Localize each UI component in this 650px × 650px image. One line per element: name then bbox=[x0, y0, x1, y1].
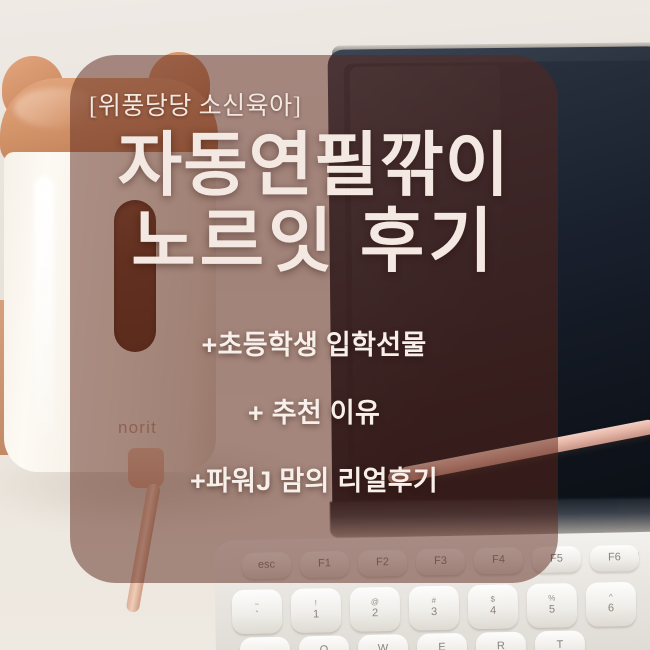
keyboard-key[interactable]: Q bbox=[299, 635, 350, 650]
keyboard-key[interactable]: %5 bbox=[527, 583, 578, 628]
key-label: W bbox=[378, 643, 389, 650]
key-label: 2 bbox=[372, 607, 378, 621]
key-label: 3 bbox=[431, 606, 437, 620]
key-label-top: $ bbox=[491, 595, 496, 605]
keyboard-key[interactable]: #3 bbox=[409, 585, 460, 630]
keyboard-key[interactable]: !1 bbox=[291, 588, 342, 633]
key-label-top: # bbox=[432, 596, 437, 606]
key-label-top: % bbox=[548, 594, 555, 604]
keyboard-key[interactable]: $4 bbox=[468, 584, 519, 629]
key-label: 4 bbox=[490, 605, 496, 619]
key-label: 6 bbox=[608, 602, 614, 616]
key-label-top: ! bbox=[315, 599, 317, 609]
key-label: 5 bbox=[549, 604, 555, 618]
key-label: Q bbox=[320, 644, 329, 650]
key-label-top: ^ bbox=[609, 592, 613, 602]
text-overlay-panel bbox=[70, 55, 558, 583]
keyboard-key[interactable]: ~` bbox=[232, 589, 283, 634]
key-label: R bbox=[497, 640, 505, 650]
keyboard-key[interactable]: E bbox=[417, 633, 468, 650]
key-label: 1 bbox=[313, 609, 319, 623]
key-label-top: @ bbox=[371, 597, 379, 607]
keyboard-key[interactable]: T bbox=[535, 630, 586, 650]
key-label: F6 bbox=[608, 551, 621, 565]
keyboard-key[interactable]: @2 bbox=[350, 587, 401, 632]
keyboard-key[interactable]: ^6 bbox=[586, 582, 637, 627]
keyboard-number-row: ~` !1 @2 #3 $4 %5 ^6 bbox=[232, 582, 637, 634]
key-label: E bbox=[438, 641, 446, 650]
key-label: ` bbox=[255, 610, 259, 624]
sharpener-body-highlight bbox=[34, 176, 54, 436]
keyboard-key[interactable]: R bbox=[476, 632, 527, 650]
thumbnail-canvas: norit lo esc F1 F2 F3 F4 F5 F6 ~` !1 @2 … bbox=[0, 0, 650, 650]
keyboard-key[interactable] bbox=[240, 637, 291, 650]
keyboard-key[interactable]: W bbox=[358, 634, 409, 650]
keyboard-key[interactable]: F6 bbox=[590, 545, 640, 572]
key-label-top: ~ bbox=[254, 600, 259, 610]
key-label: T bbox=[556, 639, 563, 650]
